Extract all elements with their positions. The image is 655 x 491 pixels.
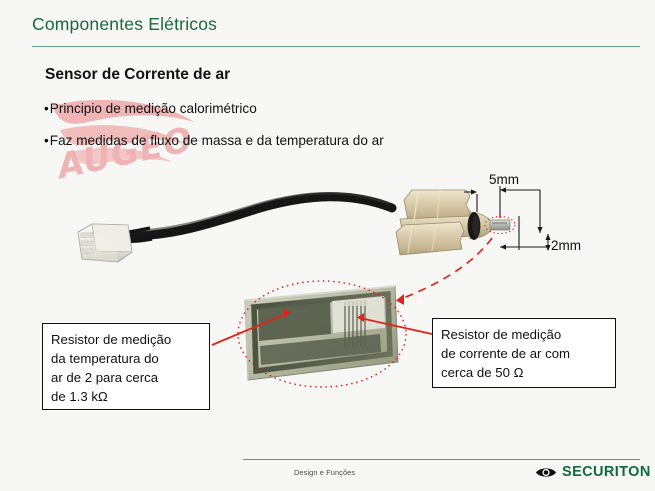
callout-line: cerca de 50 Ω <box>441 363 608 382</box>
dimension-label-length: 5mm <box>489 172 519 187</box>
securiton-logo: SECURITON <box>535 464 651 480</box>
footer-caption: Design e Funções <box>294 468 355 477</box>
slide-canvas: Componentes Elétricos AUGEO Sensor de Co… <box>0 0 655 491</box>
dimension-label-width: 2mm <box>551 238 581 253</box>
callout-line: da temperatura do <box>51 349 202 368</box>
magnified-sensor-chip <box>238 281 406 387</box>
callout-line: de corrente de ar com <box>441 344 608 363</box>
callout-box-current-resistor: Resistor de medição de corrente de ar co… <box>432 318 616 388</box>
callout-box-temperature-resistor: Resistor de medição da temperatura do ar… <box>42 323 210 410</box>
eye-icon <box>535 466 557 479</box>
callout-line: Resistor de medição <box>441 325 608 344</box>
connector-plug <box>78 224 132 262</box>
footer-divider <box>243 459 640 460</box>
logo-wordmark: SECURITON <box>562 464 651 480</box>
callout-line: de 1.3 kΩ <box>51 387 202 406</box>
callout-line: ar de 2 para cerca <box>51 368 202 387</box>
sensor-housing <box>396 190 510 255</box>
sensor-tip-element <box>490 220 510 230</box>
callout-line: Resistor de medição <box>51 330 202 349</box>
